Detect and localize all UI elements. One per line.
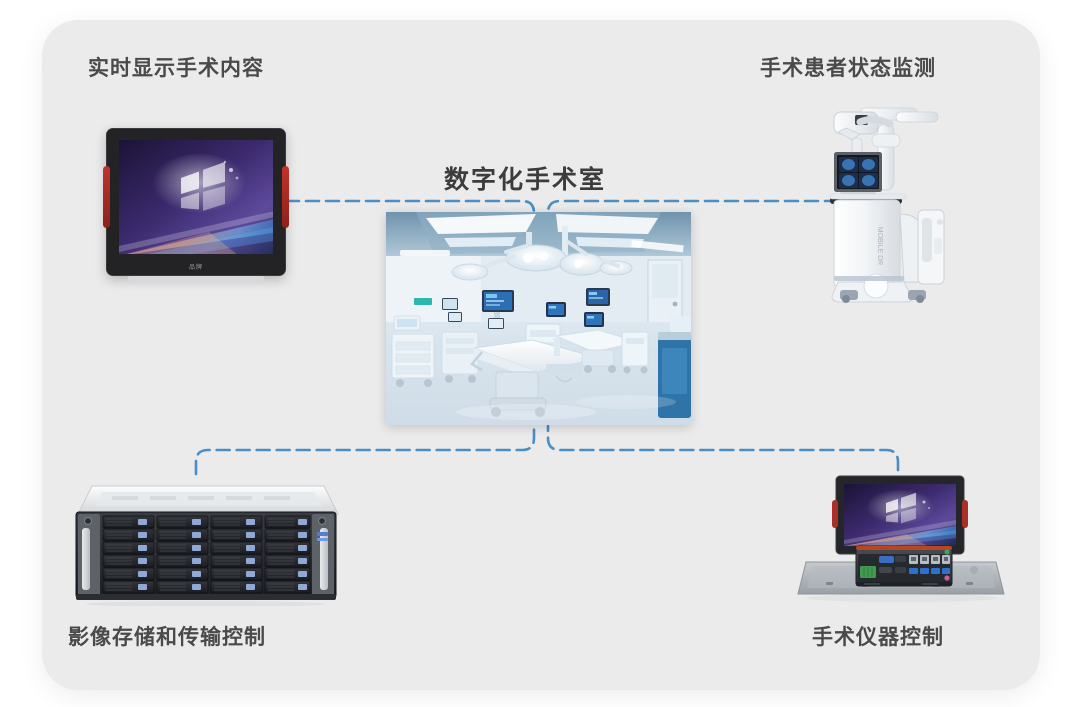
wide-monitor — [832, 476, 968, 554]
diagram-canvas: 实时显示手术内容 手术患者状态监测 影像存储和传输控制 手术仪器控制 数字化手术… — [0, 0, 1080, 707]
panel-pc-grip-left — [103, 166, 110, 228]
svg-text:MOBILE DR: MOBILE DR — [876, 227, 883, 266]
label-display-panel-pc: 实时显示手术内容 — [88, 52, 264, 82]
panel-pc-screen — [119, 140, 273, 254]
device-display-panel-pc: 品牌 — [106, 128, 286, 276]
center-title: 数字化手术室 — [444, 160, 606, 196]
connector-bottom-left — [196, 426, 534, 474]
operating-room-photo — [386, 212, 691, 425]
panel-pc-stand — [128, 276, 264, 282]
connector-bottom-right — [548, 426, 898, 470]
device-storage-server — [72, 484, 340, 606]
label-instrument-control: 手术仪器控制 — [812, 621, 944, 651]
box-pc-chassis — [856, 546, 952, 586]
label-patient-monitor: 手术患者状态监测 — [760, 52, 936, 82]
panel-pc-brand-logo: 品牌 — [106, 262, 286, 271]
label-storage-server: 影像存储和传输控制 — [68, 621, 266, 651]
panel-pc-grip-right — [282, 166, 289, 228]
device-patient-monitor-cart: MOBILE DR — [800, 106, 952, 306]
device-instrument-control — [796, 470, 1008, 606]
cart-display — [834, 152, 882, 192]
